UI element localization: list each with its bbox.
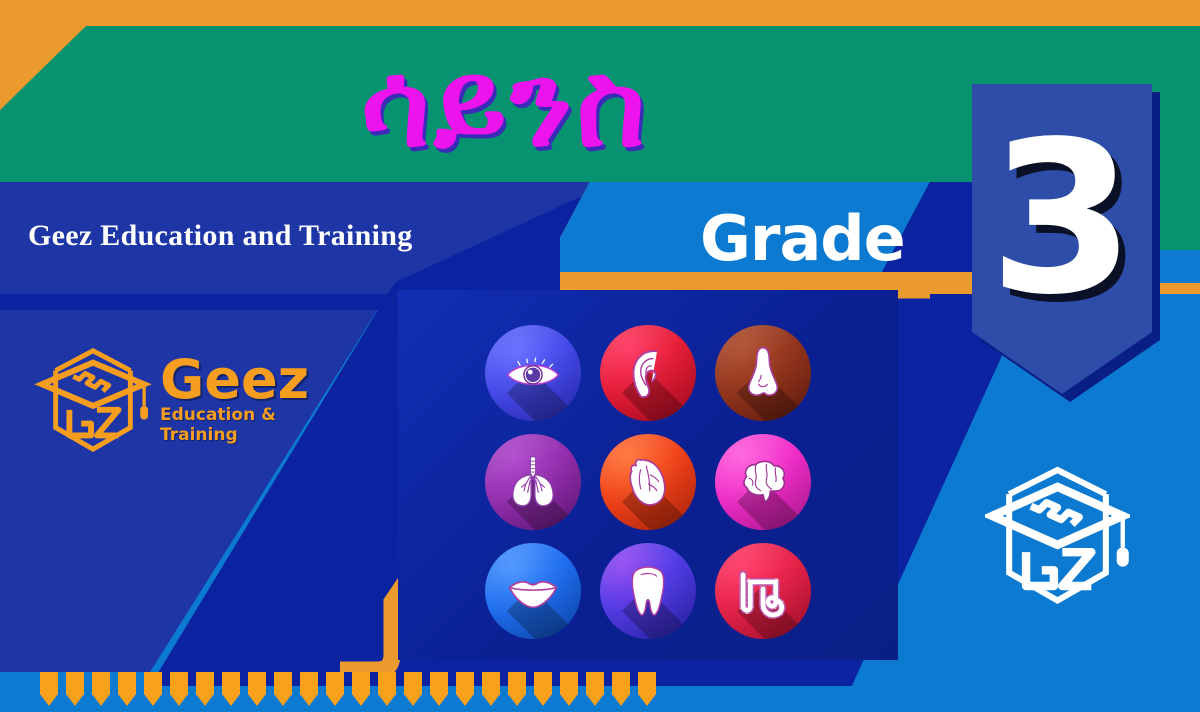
ear-glyph — [619, 344, 677, 402]
pennant — [222, 672, 240, 706]
grade-label: Grade — [700, 192, 1000, 284]
pennant — [612, 672, 630, 706]
intestines-icon[interactable] — [715, 543, 811, 639]
pennant — [144, 672, 162, 706]
heart-icon[interactable] — [600, 434, 696, 530]
heart-glyph — [619, 453, 677, 511]
pennant — [326, 672, 344, 706]
lungs-glyph — [504, 453, 562, 511]
page-title: ሳይንስ — [0, 24, 1010, 184]
pennant — [300, 672, 318, 706]
pennant — [456, 672, 474, 706]
eye-icon[interactable] — [485, 325, 581, 421]
pennant — [40, 672, 58, 706]
icon-cell[interactable] — [709, 322, 818, 425]
pennant — [534, 672, 552, 706]
icon-cell[interactable] — [478, 322, 587, 425]
pennant — [404, 672, 422, 706]
body-parts-icon-grid — [478, 322, 818, 642]
brain-icon[interactable] — [715, 434, 811, 530]
pennant — [92, 672, 110, 706]
pennant — [482, 672, 500, 706]
brain-glyph — [734, 453, 792, 511]
pennant — [274, 672, 292, 706]
ear-icon[interactable] — [600, 325, 696, 421]
icon-cell[interactable] — [593, 431, 702, 534]
graduation-cap-hexagon-icon — [34, 341, 152, 459]
logo-tagline: Education & Training — [160, 405, 324, 445]
icon-cell[interactable] — [478, 431, 587, 534]
mouth-icon[interactable] — [485, 543, 581, 639]
icon-cell[interactable] — [709, 539, 818, 642]
tooth-glyph — [619, 562, 677, 620]
icon-cell[interactable] — [709, 431, 818, 534]
pennant — [638, 672, 656, 706]
nose-glyph — [734, 344, 792, 402]
tooth-icon[interactable] — [600, 543, 696, 639]
pennant — [586, 672, 604, 706]
grade-number: 3 — [972, 84, 1152, 354]
pennant — [378, 672, 396, 706]
icon-cell[interactable] — [593, 539, 702, 642]
watermark-logo-icon — [985, 455, 1130, 630]
brand-logo: Geez Education & Training — [34, 336, 324, 464]
pennant-row — [40, 672, 680, 708]
pennant — [170, 672, 188, 706]
pennant — [248, 672, 266, 706]
pennant — [66, 672, 84, 706]
icon-cell[interactable] — [478, 539, 587, 642]
icon-cell[interactable] — [593, 322, 702, 425]
mouth-glyph — [504, 562, 562, 620]
pennant — [560, 672, 578, 706]
book-cover: ሳይንስ Geez Education and Training Grade 3 — [0, 0, 1200, 712]
pennant — [352, 672, 370, 706]
eye-glyph — [504, 344, 562, 402]
pennant — [196, 672, 214, 706]
pennant — [430, 672, 448, 706]
pennant — [508, 672, 526, 706]
organization-name: Geez Education and Training — [28, 206, 548, 266]
nose-icon[interactable] — [715, 325, 811, 421]
intestines-glyph — [734, 562, 792, 620]
lungs-icon[interactable] — [485, 434, 581, 530]
logo-name: Geez — [160, 355, 324, 405]
pennant — [118, 672, 136, 706]
